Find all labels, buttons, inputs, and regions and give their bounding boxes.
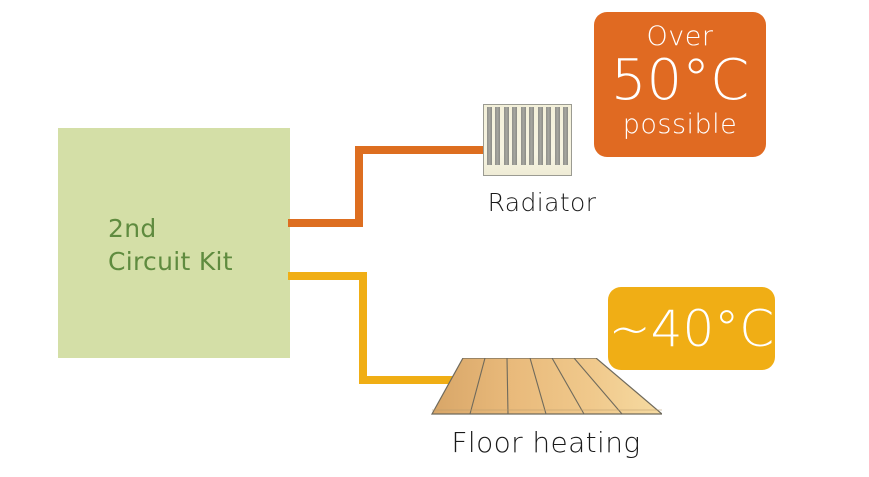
radiator-fin: [529, 107, 534, 165]
floor-heating-label: Floor heating: [420, 426, 672, 459]
radiator-fin: [538, 107, 543, 165]
radiator-fin: [495, 107, 500, 165]
radiator-icon: [483, 104, 572, 176]
radiator-pipe-segment-horizontal-upper: [355, 146, 486, 154]
floor-temperature-badge: ~40°C: [608, 287, 775, 370]
floor-pipe-segment-vertical: [359, 272, 367, 384]
badge-bottom-text: possible: [594, 110, 766, 140]
badge-value-text: ~40°C: [609, 303, 774, 355]
radiator-fin: [563, 107, 568, 165]
radiator-temperature-badge: Over 50°C possible: [594, 12, 766, 157]
radiator-fin: [546, 107, 551, 165]
radiator-label: Radiator: [462, 188, 622, 217]
radiator-fins-group: [487, 107, 568, 165]
radiator-pipe-segment-horizontal-lower: [288, 219, 363, 227]
floor-pipe-segment-horizontal-upper: [288, 272, 367, 280]
radiator-fin: [555, 107, 560, 165]
radiator-fin: [487, 107, 492, 165]
radiator-fin: [504, 107, 509, 165]
diagram-canvas: 2nd Circuit Kit Radiator: [0, 0, 869, 477]
circuit-kit-label: 2nd Circuit Kit: [108, 212, 308, 278]
radiator-pipe-segment-vertical: [355, 146, 363, 227]
radiator-fin: [512, 107, 517, 165]
radiator-fin: [521, 107, 526, 165]
badge-value-text: 50°C: [594, 52, 766, 110]
